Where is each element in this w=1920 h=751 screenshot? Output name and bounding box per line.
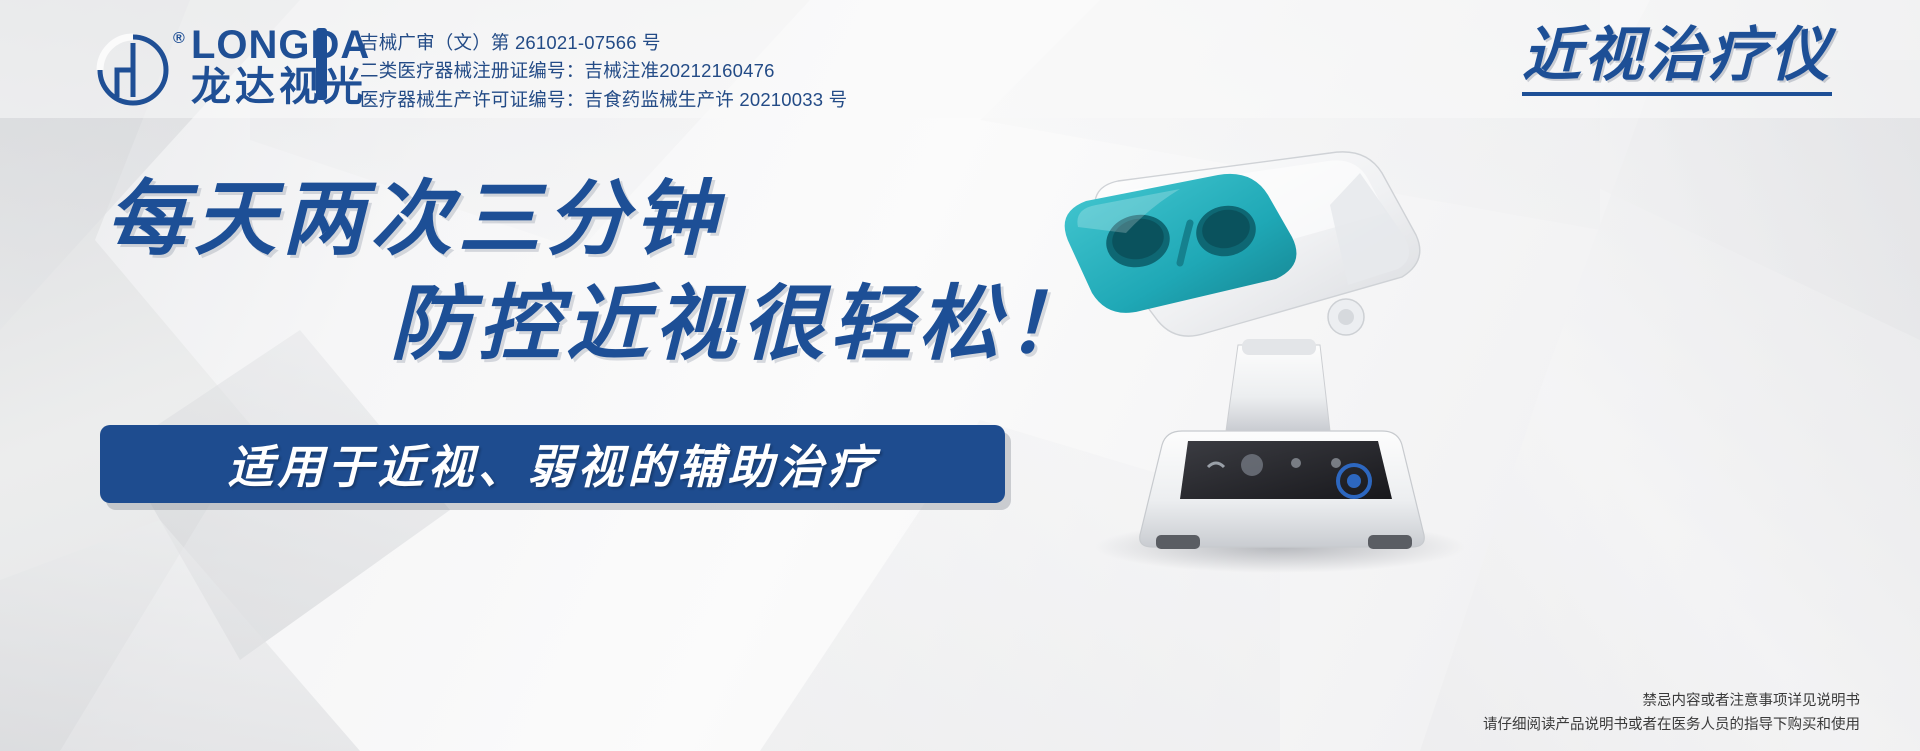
headline-line-1: 每天两次三分钟 (100, 168, 1060, 273)
certification-block: 吉械广审（文）第 261021-07566 号 二类医疗器械注册证编号：吉械注准… (360, 29, 847, 114)
certification-line-1: 吉械广审（文）第 261021-07566 号 (360, 29, 847, 57)
product-title: 近视治疗仪 (1522, 22, 1832, 96)
disclaimer-line-1: 禁忌内容或者注意事项详见说明书 (1483, 690, 1860, 713)
headline-line-2: 防控近视很轻松！ (100, 273, 1060, 378)
product-image (1030, 95, 1570, 575)
cta-banner-text: 适用于近视、弱视的辅助治疗 (228, 431, 878, 497)
certification-line-2: 二类医疗器械注册证编号：吉械注准20212160476 (360, 57, 847, 85)
disclaimer: 禁忌内容或者注意事项详见说明书 请仔细阅读产品说明书或者在医务人员的指导下购买和… (1483, 690, 1860, 737)
vertical-divider (316, 28, 327, 100)
headline: 每天两次三分钟 防控近视很轻松！ (100, 168, 1060, 378)
brand-latin-name: LONGDA (191, 26, 370, 64)
cta-banner[interactable]: 适用于近视、弱视的辅助治疗 (100, 425, 1005, 503)
disclaimer-line-2: 请仔细阅读产品说明书或者在医务人员的指导下购买和使用 (1483, 714, 1860, 737)
brand-chinese-name: 龙达视光 (191, 66, 370, 108)
longda-circle-monogram-icon: ® (95, 26, 177, 108)
certification-line-3: 医疗器械生产许可证编号：吉食药监械生产许 20210033 号 (360, 86, 847, 114)
advertisement-banner: ® LONGDA 龙达视光 吉械广审（文）第 261021-07566 号 二类… (0, 0, 1920, 751)
registered-trademark-mark: ® (173, 30, 185, 48)
background-shard (0, 520, 360, 751)
brand-logo-text: LONGDA 龙达视光 (191, 26, 370, 108)
product-title-text: 近视治疗仪 (1522, 22, 1832, 88)
brand-logo[interactable]: ® LONGDA 龙达视光 (95, 26, 370, 108)
